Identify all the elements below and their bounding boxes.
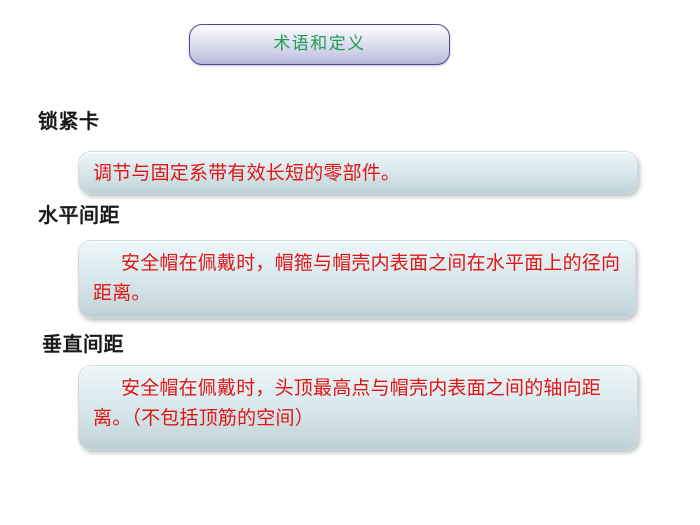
definition-box-chuizhijianju: 安全帽在佩戴时，头顶最高点与帽壳内表面之间的轴向距离。（不包括顶筋的空间） — [78, 365, 638, 450]
term-heading-shuipingjianju: 水平间距 — [38, 205, 120, 225]
slide-canvas: 术语和定义 锁紧卡 调节与固定系带有效长短的零部件。 水平间距 安全帽在佩戴时，… — [0, 0, 700, 525]
definition-box-shuipingjianju: 安全帽在佩戴时，帽箍与帽壳内表面之间在水平面上的径向距离。 — [78, 240, 636, 318]
slide-title-text: 术语和定义 — [273, 36, 366, 53]
definition-text-suojinka: 调节与固定系带有效长短的零部件。 — [93, 159, 623, 188]
slide-title-banner: 术语和定义 — [189, 24, 450, 65]
term-heading-suojinka: 锁紧卡 — [38, 111, 100, 131]
definition-box-suojinka: 调节与固定系带有效长短的零部件。 — [78, 151, 638, 194]
definition-text-shuipingjianju: 安全帽在佩戴时，帽箍与帽壳内表面之间在水平面上的径向距离。 — [93, 248, 621, 308]
term-heading-chuizhijianju: 垂直间距 — [42, 334, 124, 354]
definition-text-chuizhijianju: 安全帽在佩戴时，头顶最高点与帽壳内表面之间的轴向距离。（不包括顶筋的空间） — [93, 373, 623, 433]
